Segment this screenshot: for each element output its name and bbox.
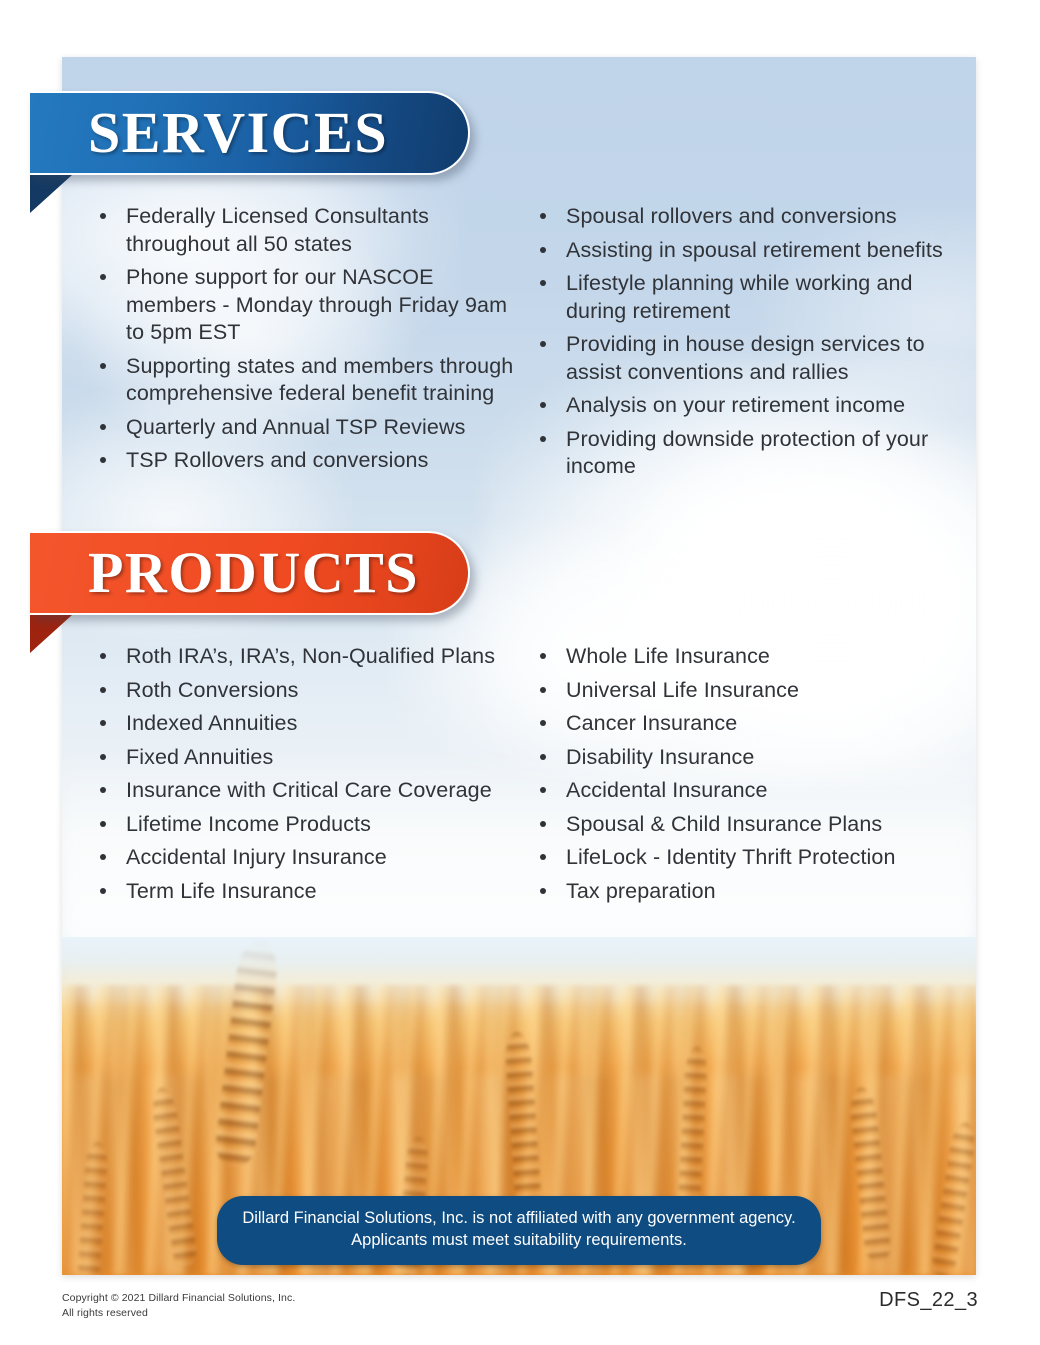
services-column-left: Federally Licensed Consultants throughou… <box>92 203 522 487</box>
section-title-products: PRODUCTS <box>88 531 419 615</box>
ribbon-fold-products <box>30 615 72 653</box>
section-banner-services: SERVICES <box>30 91 470 175</box>
services-column-right: Spousal rollovers and conversions Assist… <box>532 203 962 487</box>
list-item: Whole Life Insurance <box>532 643 962 671</box>
list-item: Universal Life Insurance <box>532 677 962 705</box>
list-item: Indexed Annuities <box>92 710 522 738</box>
list-item: Fixed Annuities <box>92 744 522 772</box>
footer-copyright: Copyright © 2021 Dillard Financial Solut… <box>62 1291 295 1321</box>
list-item: Insurance with Critical Care Coverage <box>92 777 522 805</box>
list-item: Accidental Injury Insurance <box>92 844 522 872</box>
list-item: Lifetime Income Products <box>92 811 522 839</box>
list-item: Analysis on your retirement income <box>532 392 962 420</box>
products-content: Roth IRA’s, IRA’s, Non-Qualified Plans R… <box>92 643 972 911</box>
list-item: Tax preparation <box>532 878 962 906</box>
list-item: Roth Conversions <box>92 677 522 705</box>
ribbon-fold-services <box>30 175 72 213</box>
list-item: Spousal & Child Insurance Plans <box>532 811 962 839</box>
services-list-left: Federally Licensed Consultants throughou… <box>92 203 522 475</box>
wheat-field-top-fade <box>62 937 976 1007</box>
products-column-right: Whole Life Insurance Universal Life Insu… <box>532 643 962 911</box>
list-item: Providing in house design services to as… <box>532 331 962 386</box>
page-root: SERVICES Federally Licensed Consultants … <box>0 0 1040 1345</box>
list-item: Quarterly and Annual TSP Reviews <box>92 414 522 442</box>
page-code-label: DFS_22_3 <box>879 1289 978 1312</box>
list-item: Federally Licensed Consultants throughou… <box>92 203 522 258</box>
products-column-left: Roth IRA’s, IRA’s, Non-Qualified Plans R… <box>92 643 522 911</box>
list-item: Phone support for our NASCOE members - M… <box>92 264 522 347</box>
list-item: Supporting states and members through co… <box>92 353 522 408</box>
list-item: Roth IRA’s, IRA’s, Non-Qualified Plans <box>92 643 522 671</box>
list-item: Term Life Insurance <box>92 878 522 906</box>
section-title-services: SERVICES <box>88 91 388 175</box>
list-item: Assisting in spousal retirement benefits <box>532 237 962 265</box>
copyright-line-1: Copyright © 2021 Dillard Financial Solut… <box>62 1291 295 1306</box>
services-list-right: Spousal rollovers and conversions Assist… <box>532 203 962 481</box>
list-item: Cancer Insurance <box>532 710 962 738</box>
list-item: Providing downside protection of your in… <box>532 426 962 481</box>
copyright-line-2: All rights reserved <box>62 1306 295 1321</box>
list-item: TSP Rollovers and conversions <box>92 447 522 475</box>
services-content: Federally Licensed Consultants throughou… <box>92 203 972 487</box>
disclaimer-line-1: Dillard Financial Solutions, Inc. is not… <box>239 1208 799 1230</box>
products-list-right: Whole Life Insurance Universal Life Insu… <box>532 643 962 905</box>
list-item: Spousal rollovers and conversions <box>532 203 962 231</box>
list-item: Accidental Insurance <box>532 777 962 805</box>
section-banner-products: PRODUCTS <box>30 531 470 615</box>
list-item: Lifestyle planning while working and dur… <box>532 270 962 325</box>
products-list-left: Roth IRA’s, IRA’s, Non-Qualified Plans R… <box>92 643 522 905</box>
disclaimer-banner: Dillard Financial Solutions, Inc. is not… <box>217 1196 821 1265</box>
list-item: LifeLock - Identity Thrift Protection <box>532 844 962 872</box>
list-item: Disability Insurance <box>532 744 962 772</box>
disclaimer-line-2: Applicants must meet suitability require… <box>239 1230 799 1252</box>
